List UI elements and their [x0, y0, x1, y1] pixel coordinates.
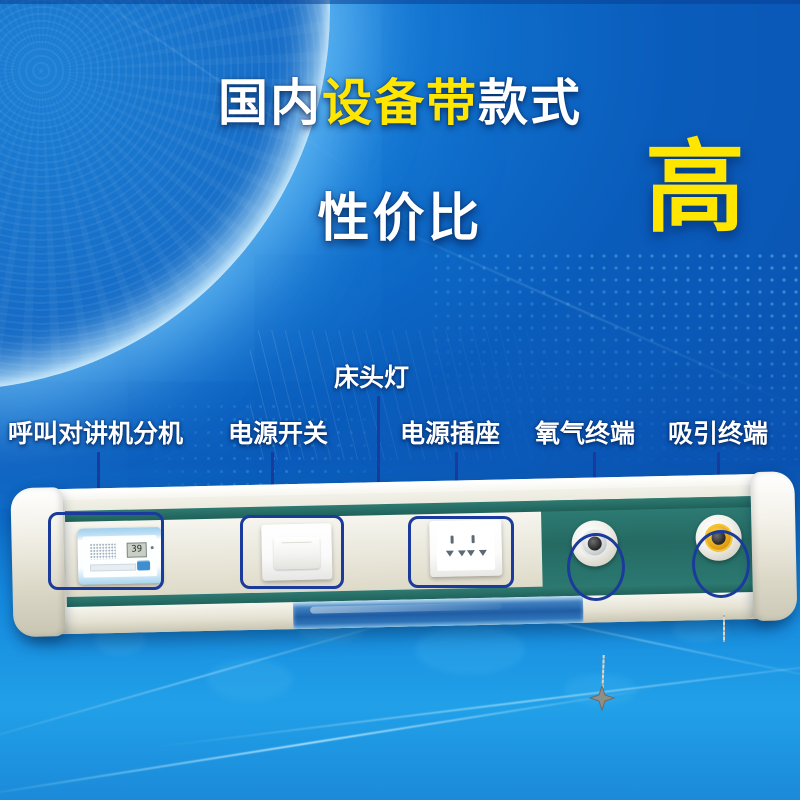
- hook-outline-suction: [692, 530, 750, 598]
- callout-label-oxygen: 氧气终端: [535, 414, 635, 450]
- hook-outline-power-socket: [408, 516, 514, 588]
- callout-label-suction: 吸引终端: [668, 414, 768, 450]
- hanging-cord-short: [723, 612, 725, 642]
- callout-label-bed-lamp: 床头灯: [334, 358, 409, 394]
- headline-emphasis-char: 高: [645, 138, 745, 238]
- callout-label-power-switch: 电源开关: [228, 414, 328, 450]
- callout-label-intercom: 呼叫对讲机分机: [8, 414, 183, 450]
- hook-outline-oxygen: [567, 533, 625, 601]
- top-edge-bar: [0, 0, 800, 4]
- cord-weight-icon: [588, 684, 616, 712]
- unit-end-cap-right: [750, 471, 797, 621]
- bed-lamp-diffuser: [293, 596, 584, 629]
- promo-banner: 国内设备带款式 性价比 高 呼叫对讲机分机 电源开关 床头灯 电源插座 氧气终端…: [0, 0, 800, 800]
- hook-outline-intercom: [48, 512, 164, 590]
- hook-outline-power-switch: [240, 515, 344, 589]
- callout-label-power-socket: 电源插座: [400, 414, 500, 450]
